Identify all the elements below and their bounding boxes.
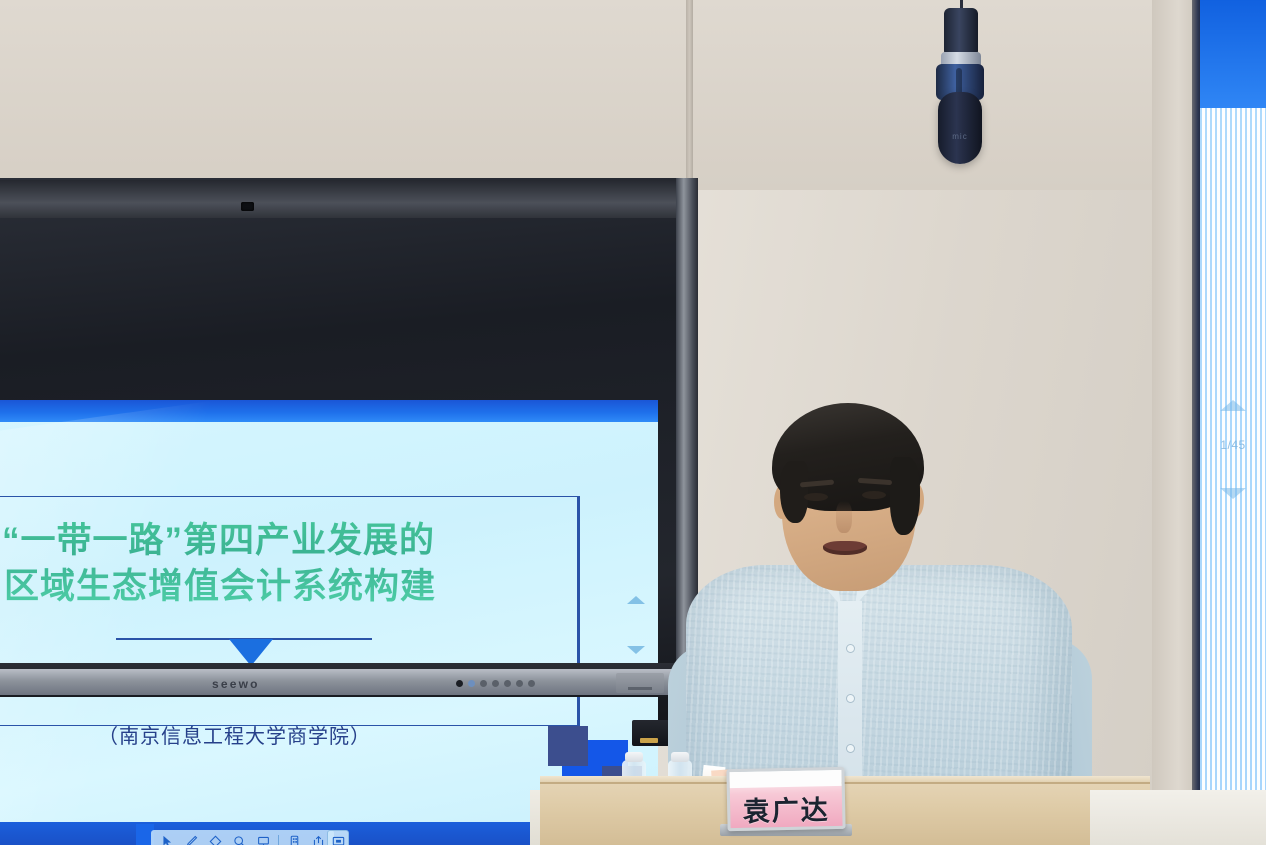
- display-cast-icon[interactable]: [327, 830, 349, 845]
- magnifier-icon[interactable]: [227, 831, 251, 845]
- speaker-person: [690, 395, 1090, 815]
- toolbar-separator: [278, 835, 279, 845]
- source-button[interactable]: [504, 680, 511, 687]
- table-right: [1090, 790, 1266, 845]
- secondary-screen-prev-page-icon[interactable]: [1220, 400, 1246, 411]
- conference-room-photo: 1/45 mic “一带一路”第四产业发展的 区域生态增值会计系统构建 报告人：…: [0, 0, 1266, 845]
- nameplate-text: 袁广达: [730, 788, 843, 829]
- speaker-eye-left: [804, 493, 828, 501]
- slide-scroll-up-icon[interactable]: [627, 596, 645, 604]
- secondary-screen-top-band: [1200, 0, 1266, 108]
- back-button[interactable]: [528, 680, 535, 687]
- display-brand-logo: seewo: [212, 677, 260, 691]
- qrcode-icon[interactable]: [282, 831, 306, 845]
- speaker-hair: [772, 403, 924, 511]
- secondary-screen-content: [1200, 108, 1266, 800]
- secondary-screen-page-indicator: 1/45: [1200, 438, 1266, 452]
- slide-title-line-2: 区域生态增值会计系统构建: [2, 564, 532, 610]
- pen-icon[interactable]: [179, 831, 203, 845]
- microphone-mount: [944, 8, 978, 54]
- display-top-bezel: [0, 180, 686, 218]
- slide-divider-triangle-icon: [229, 639, 273, 666]
- shirt-button-2: [847, 695, 854, 702]
- camera-icon: [241, 202, 254, 211]
- smart-display[interactable]: “一带一路”第四产业发展的 区域生态增值会计系统构建 报告人：袁广达 （南京信息…: [0, 178, 698, 723]
- screen-icon[interactable]: [251, 831, 275, 845]
- annotation-toolbar[interactable]: [151, 830, 334, 845]
- bottle-cap-2: [671, 752, 689, 762]
- speaker-nose: [836, 501, 852, 533]
- slide-affiliation: （南京信息工程大学商学院）: [98, 720, 371, 749]
- power-button[interactable]: [456, 680, 463, 687]
- cursor-icon[interactable]: [155, 831, 179, 845]
- speaker-eye-right: [862, 491, 886, 499]
- vol-up-button[interactable]: [492, 680, 499, 687]
- nameplate-top-band: [729, 770, 841, 788]
- shirt-button-1: [847, 645, 854, 652]
- home-button[interactable]: [516, 680, 523, 687]
- slide-top-band: [0, 400, 658, 422]
- secondary-screen-next-page-icon[interactable]: [1220, 488, 1246, 499]
- vol-down-button[interactable]: [480, 680, 487, 687]
- display-control-buttons[interactable]: [456, 680, 535, 687]
- microphone-capsule: mic: [938, 92, 982, 164]
- secondary-screen[interactable]: 1/45: [1200, 0, 1266, 800]
- menu-button[interactable]: [468, 680, 475, 687]
- eraser-icon[interactable]: [203, 831, 227, 845]
- speaker-mouth: [823, 541, 867, 555]
- bottle-cap-1: [625, 752, 643, 762]
- microphone-brand-mark: mic: [938, 132, 982, 141]
- decor-square-1: [548, 726, 588, 766]
- shirt-button-3: [847, 745, 854, 752]
- ir-receiver-port: [616, 673, 664, 693]
- room-wall-upper: [0, 0, 1200, 190]
- device-led-indicator: [640, 738, 658, 743]
- nameplate: 袁广达: [726, 767, 845, 831]
- slide-title: “一带一路”第四产业发展的 区域生态增值会计系统构建: [2, 518, 532, 610]
- display-bezel-strip: [0, 669, 672, 695]
- slide-title-line-1: “一带一路”第四产业发展的: [2, 518, 532, 564]
- slide-scroll-down-icon[interactable]: [627, 646, 645, 654]
